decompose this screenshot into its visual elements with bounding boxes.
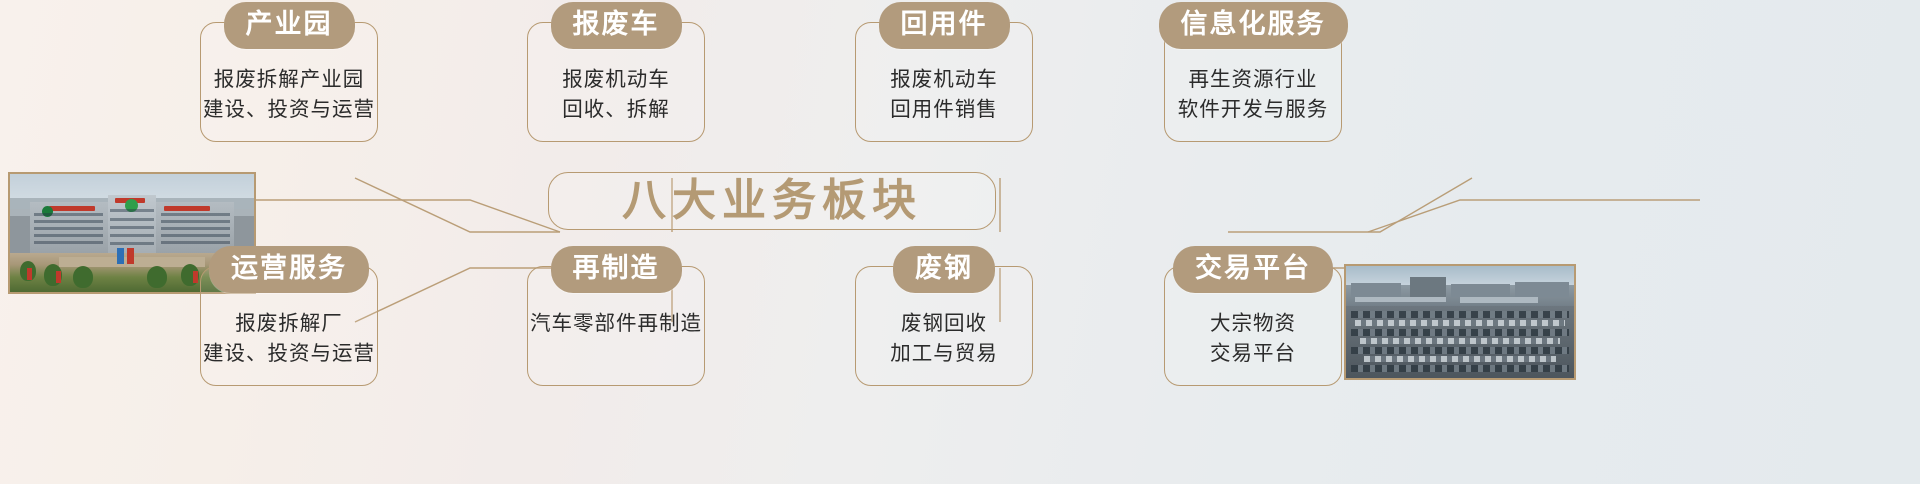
card-industrial-park[interactable]: 产业园 报废拆解产业园 建设、投资与运营 (200, 22, 378, 142)
card-title-pill: 废钢 (893, 246, 995, 293)
card-title-pill: 产业园 (224, 2, 355, 49)
card-scrap-vehicle[interactable]: 报废车 报废机动车 回收、拆解 (527, 22, 705, 142)
card-description: 报废拆解厂 建设、投资与运营 (203, 309, 375, 368)
photo-vehicle-yard (1344, 264, 1576, 380)
link-left-photo (220, 200, 560, 232)
card-description: 报废拆解产业园 建设、投资与运营 (203, 65, 375, 124)
card-title-pill: 交易平台 (1173, 246, 1333, 293)
card-operation-service[interactable]: 运营服务 报废拆解厂 建设、投资与运营 (200, 266, 378, 386)
card-description: 大宗物资 交易平台 (1210, 309, 1296, 368)
card-title-pill: 报废车 (551, 2, 682, 49)
center-node-title: 八大业务板块 (622, 179, 922, 223)
card-trading-platform[interactable]: 交易平台 大宗物资 交易平台 (1164, 266, 1342, 386)
card-title-pill: 运营服务 (209, 246, 369, 293)
card-title-pill: 信息化服务 (1159, 2, 1348, 49)
diagram-canvas: 八大业务板块 产业园 报废拆解产业园 建设、投资与运营 报废车 报废机动车 回收… (0, 0, 1920, 484)
card-description: 废钢回收 加工与贸易 (890, 309, 998, 368)
card-scrap-steel[interactable]: 废钢 废钢回收 加工与贸易 (855, 266, 1033, 386)
card-title-pill: 回用件 (879, 2, 1010, 49)
center-node[interactable]: 八大业务板块 (548, 172, 996, 230)
card-title-pill: 再制造 (551, 246, 682, 293)
card-remanufacturing[interactable]: 再制造 汽车零部件再制造 (527, 266, 705, 386)
link-right-photo (1368, 200, 1700, 232)
card-description: 报废机动车 回用件销售 (890, 65, 998, 124)
card-description: 报废机动车 回收、拆解 (562, 65, 670, 124)
card-informatization-service[interactable]: 信息化服务 再生资源行业 软件开发与服务 (1164, 22, 1342, 142)
card-description: 汽车零部件再制造 (530, 309, 702, 339)
link-center-top-1 (355, 178, 560, 232)
card-reusable-parts[interactable]: 回用件 报废机动车 回用件销售 (855, 22, 1033, 142)
card-description: 再生资源行业 软件开发与服务 (1178, 65, 1329, 124)
link-center-top-4 (1228, 178, 1472, 232)
